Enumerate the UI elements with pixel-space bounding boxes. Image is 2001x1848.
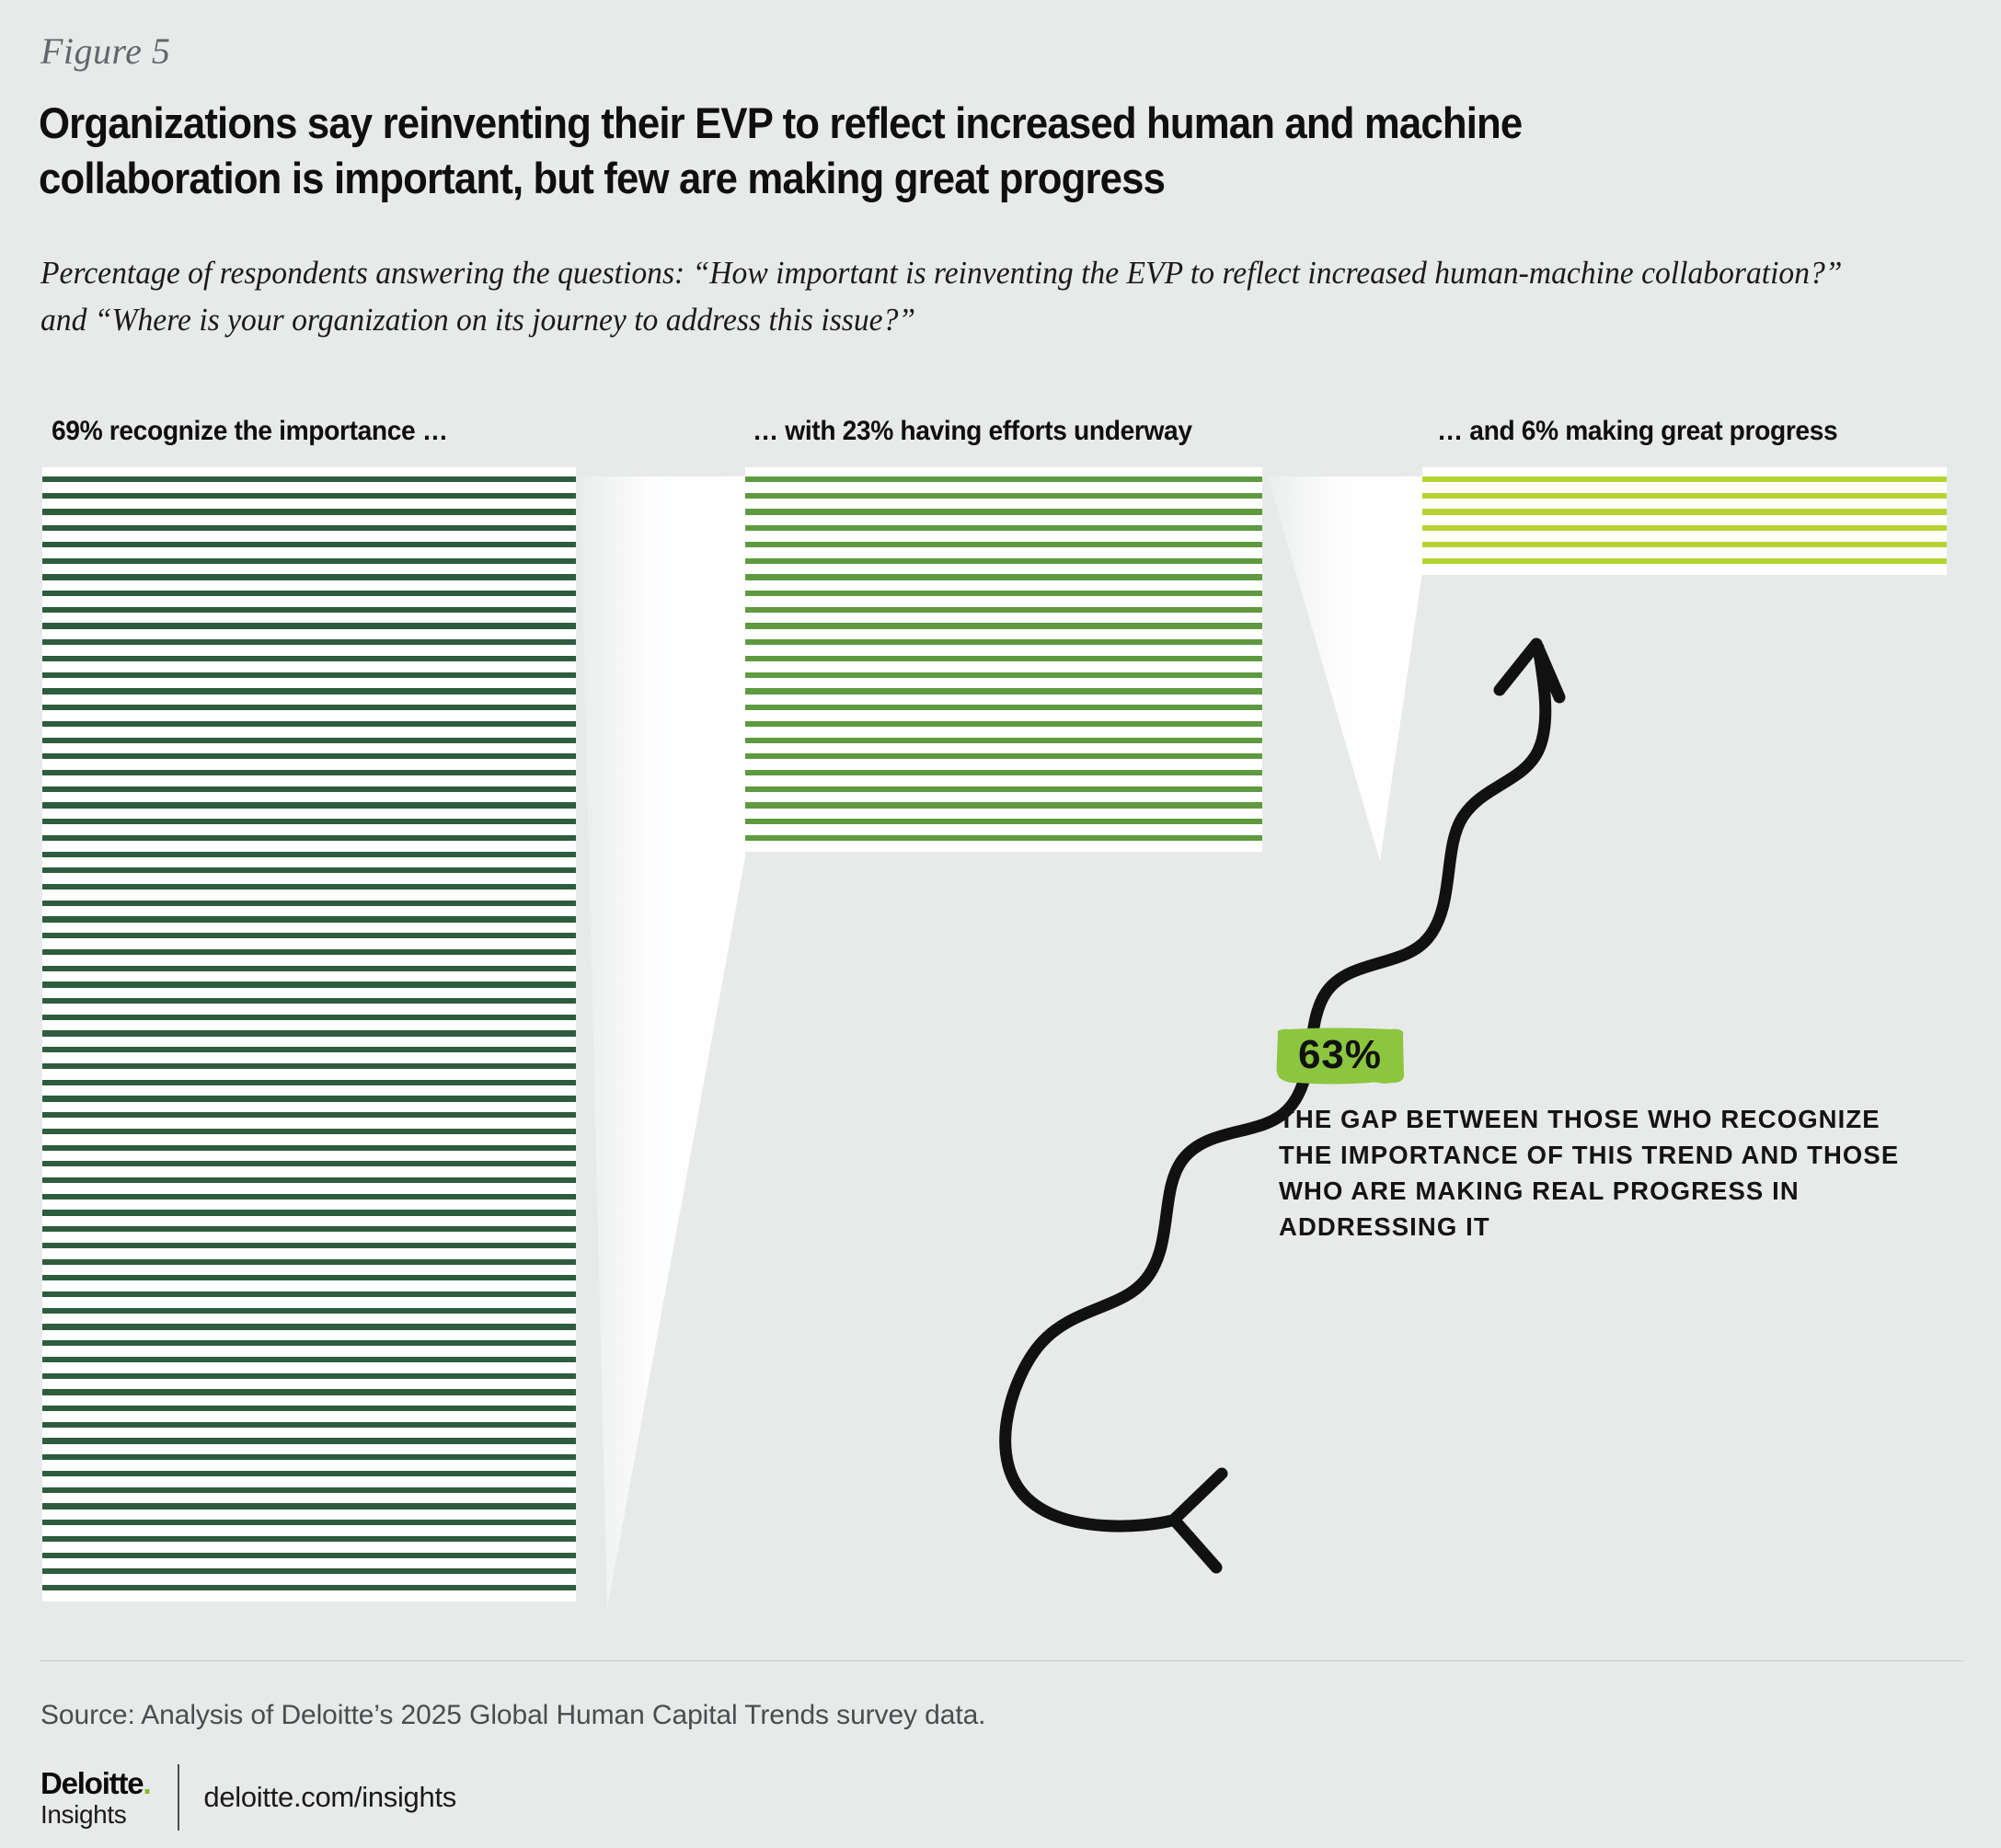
bar-stripe	[42, 786, 576, 792]
bar-stripe	[42, 1210, 576, 1215]
logo-deloitte-label: Deloitte	[40, 1766, 143, 1800]
bar-stripe	[42, 901, 576, 906]
bar-stripe	[42, 1259, 576, 1265]
bar-stripe	[42, 884, 576, 890]
bar-stripe	[745, 574, 1262, 580]
bar-stripe	[745, 542, 1262, 547]
bar-stripe	[745, 623, 1262, 628]
bar-stripe	[42, 493, 576, 499]
logo-green-dot: .	[143, 1766, 150, 1800]
bar-stripe	[42, 1438, 576, 1443]
bar-stripe	[42, 688, 576, 694]
bar-stripe	[42, 1422, 576, 1428]
bar-stripe	[745, 738, 1262, 743]
bar-stripe	[745, 802, 1262, 808]
bar-stripe	[745, 819, 1262, 824]
bar-stripe	[42, 1568, 576, 1574]
bar-stripe	[42, 1503, 576, 1509]
bar-stripe	[42, 1047, 576, 1052]
page-title: Organizations say reinventing their EVP …	[39, 96, 1664, 206]
bar-stripe	[42, 1357, 576, 1362]
bar-stripe	[42, 998, 576, 1004]
bar-stripe	[42, 1063, 576, 1069]
bar-stripe	[42, 591, 576, 596]
bar-stripe	[745, 558, 1262, 564]
bar-stripe	[42, 639, 576, 645]
bar-stripe	[42, 1308, 576, 1314]
bar-stripe	[42, 705, 576, 710]
bar-stripe	[42, 558, 576, 564]
bar-stripe	[42, 574, 576, 580]
bar-stripe	[745, 607, 1262, 613]
bar-column-progress	[1422, 476, 1947, 564]
bar-stripe	[42, 1520, 576, 1525]
bar-stripe	[42, 1340, 576, 1346]
bar-stripe	[745, 786, 1262, 792]
bar-stripe	[42, 1324, 576, 1329]
bar-stripe	[745, 835, 1262, 841]
bar-stripe	[42, 525, 576, 531]
deloitte-insights-logo: Deloitte. Insights deloitte.com/insights	[40, 1764, 456, 1831]
bar-stripe	[42, 1096, 576, 1101]
bar-stripe	[1422, 509, 1947, 514]
bar-stripe	[745, 639, 1262, 645]
logo-deloitte-text: Deloitte.	[40, 1768, 150, 1798]
column-header-progress: … and 6% making great progress	[1437, 416, 1837, 447]
bar-stripe	[42, 476, 576, 482]
bar-stripe	[42, 542, 576, 547]
bar-stripe	[745, 525, 1262, 531]
column-header-underway: … with 23% having efforts underway	[753, 416, 1192, 447]
bar-stripe	[745, 753, 1262, 759]
bar-stripe	[745, 476, 1262, 482]
bar-stripe	[42, 1454, 576, 1460]
bar-stripe	[42, 916, 576, 922]
stat-value: 63%	[1274, 1032, 1406, 1078]
bar-stripe	[1422, 525, 1947, 531]
bar-stripe	[1422, 558, 1947, 564]
bar-stripe	[42, 1080, 576, 1085]
bar-stripe	[42, 966, 576, 971]
bar-stripe	[42, 1471, 576, 1476]
logo-divider	[178, 1764, 179, 1831]
bar-stripe	[42, 1177, 576, 1183]
bar-stripe	[42, 835, 576, 841]
bar-stripe	[1422, 476, 1947, 482]
bar-stripe	[42, 1129, 576, 1134]
bar-stripe	[745, 509, 1262, 514]
bar-stripe	[42, 1194, 576, 1199]
bar-stripe	[42, 623, 576, 628]
bar-stripe	[745, 721, 1262, 727]
bar-stripe	[745, 672, 1262, 678]
bar-stripe	[42, 1161, 576, 1166]
bar-stripe	[42, 867, 576, 873]
bar-stripe	[42, 1291, 576, 1297]
bar-stripe	[42, 1275, 576, 1280]
bar-stripe	[42, 1243, 576, 1248]
bar-stripe	[745, 705, 1262, 710]
bar-column-underway	[745, 476, 1262, 841]
bar-stripe	[42, 1585, 576, 1590]
bar-stripe	[42, 1553, 576, 1558]
bar-stripe	[42, 1226, 576, 1232]
bar-stripe	[42, 819, 576, 824]
logo-wordmark: Deloitte. Insights	[40, 1768, 150, 1828]
annotation-text: The gap between those who recognize the …	[1279, 1101, 1904, 1245]
logo-url[interactable]: deloitte.com/insights	[203, 1781, 456, 1814]
bar-stripe	[1422, 542, 1947, 547]
bar-stripe	[42, 852, 576, 857]
bar-stripe	[42, 1487, 576, 1493]
bar-stripe	[42, 1015, 576, 1020]
bar-stripe	[42, 770, 576, 775]
bar-stripe	[1422, 493, 1947, 499]
bar-stripe	[42, 721, 576, 727]
logo-insights-label: Insights	[40, 1802, 150, 1828]
source-note: Source: Analysis of Deloitte’s 2025 Glob…	[40, 1700, 985, 1731]
bar-stripe	[42, 1389, 576, 1395]
bar-stripe	[42, 949, 576, 955]
bar-stripe	[42, 753, 576, 759]
bar-stripe	[42, 672, 576, 678]
bar-stripe	[42, 509, 576, 514]
bar-stripe	[42, 656, 576, 661]
bar-stripe	[745, 688, 1262, 694]
bar-stripe	[42, 1406, 576, 1411]
figure-label: Figure 5	[40, 29, 170, 73]
stat-highlight-badge: 63%	[1274, 1027, 1406, 1085]
bar-stripe	[42, 1145, 576, 1151]
bar-stripe	[42, 607, 576, 613]
figure-container: Figure 5 Organizations say reinventing t…	[0, 0, 2001, 1848]
footer-divider	[40, 1660, 1963, 1661]
bar-stripe	[42, 802, 576, 808]
bar-stripe	[745, 493, 1262, 499]
bar-stripe	[42, 981, 576, 987]
bar-stripe	[42, 1030, 576, 1036]
bar-stripe	[42, 1373, 576, 1379]
bar-stripe	[42, 1112, 576, 1118]
bar-column-importance	[42, 476, 576, 1590]
bar-stripe	[42, 933, 576, 938]
figure-subtitle: Percentage of respondents answering the …	[40, 250, 1895, 344]
bar-stripe	[745, 770, 1262, 775]
bar-stripe	[42, 738, 576, 743]
bar-stripe	[745, 656, 1262, 661]
bar-stripe	[745, 591, 1262, 596]
bar-stripe	[42, 1536, 576, 1542]
column-header-importance: 69% recognize the importance …	[52, 416, 448, 447]
